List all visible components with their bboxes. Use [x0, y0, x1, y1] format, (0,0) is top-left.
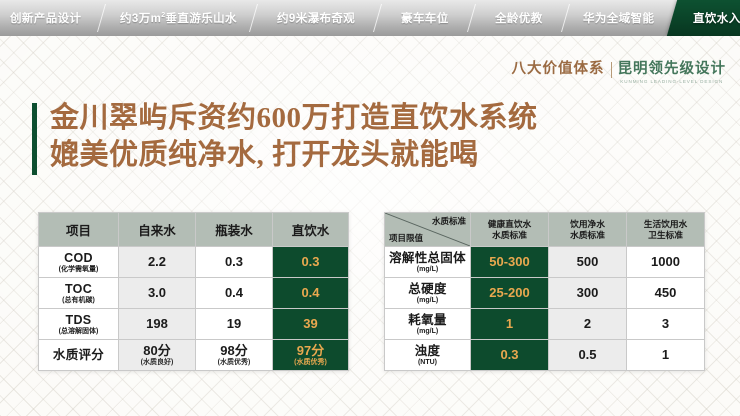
table-header-row: 项目 自来水 瓶装水 直饮水 — [39, 213, 349, 247]
row-label-sub: (总有机碳) — [39, 296, 118, 305]
nav-tab-4[interactable]: 全龄优教 — [467, 0, 571, 36]
cell-healthy-direct: 25-200 — [471, 278, 549, 309]
row-label-sub: (总溶解固体) — [39, 327, 118, 336]
table-row: COD (化学需氧量) 2.2 0.3 0.3 — [39, 247, 349, 278]
row-label-cell: 总硬度 (mg/L) — [385, 278, 471, 309]
table-row: 耗氧量 (mg/L) 1 2 3 — [385, 309, 705, 340]
row-label-cell: 溶解性总固体 (mg/L) — [385, 247, 471, 278]
cell-tap: 80分 (水质良好) — [119, 340, 196, 371]
row-label-main: COD — [39, 251, 118, 265]
nav-tab-label: 创新产品设计 — [10, 10, 81, 26]
cell-value: 19 — [196, 317, 272, 331]
top-navigation-bar: 创新产品设计 约3万m2垂直游乐山水 约9米瀑布奇观 豪车车位 全龄优教 华为全… — [0, 0, 740, 36]
row-label-main: TDS — [39, 313, 118, 327]
cell-purified: 300 — [549, 278, 627, 309]
cell-value: 0.3 — [471, 348, 548, 362]
headline-block: 金川翠屿斥资约600万打造直饮水系统 媲美优质纯净水, 打开龙头就能喝 — [32, 100, 538, 175]
cell-domestic: 450 — [627, 278, 705, 309]
col-header-direct: 直饮水 — [273, 213, 349, 247]
cell-value: 2.2 — [119, 255, 195, 269]
col-header-line2: 水质标准 — [471, 230, 548, 241]
row-label-unit: (mg/L) — [385, 296, 470, 305]
cell-direct: 0.4 — [273, 278, 349, 309]
cell-tap: 3.0 — [119, 278, 196, 309]
cell-value: 39 — [273, 317, 348, 331]
cell-value: 300 — [549, 286, 626, 300]
cell-value: 1 — [627, 348, 704, 362]
row-label-cell: 浊度 (NTU) — [385, 340, 471, 371]
water-standard-limits-table: 水质标准 项目限值 健康直饮水 水质标准 饮用净水 水质标准 生活饮用水 卫生标… — [384, 212, 705, 371]
brand-divider — [611, 62, 612, 78]
row-label-cell: COD (化学需氧量) — [39, 247, 119, 278]
nav-tab-label: 约9米瀑布奇观 — [277, 10, 355, 26]
cell-value: 50-300 — [471, 255, 548, 269]
cell-value: 2 — [549, 317, 626, 331]
cell-value: 3 — [627, 317, 704, 331]
cell-sub: (水质良好) — [119, 358, 195, 367]
nav-tab-0[interactable]: 创新产品设计 — [0, 0, 107, 36]
nav-tab-label: 豪车车位 — [401, 10, 449, 26]
cell-value: 1 — [471, 317, 548, 331]
col-header-healthy-direct: 健康直饮水 水质标准 — [471, 213, 549, 247]
nav-tab-3[interactable]: 豪车车位 — [373, 0, 477, 36]
cell-value: 0.3 — [196, 255, 272, 269]
col-header-tap: 自来水 — [119, 213, 196, 247]
headline-line-2: 媲美优质纯净水, 打开龙头就能喝 — [50, 137, 538, 174]
row-label-main: TOC — [39, 282, 118, 296]
cell-healthy-direct: 0.3 — [471, 340, 549, 371]
brand-lockup: 八大价值体系 昆明领先级设计 KUNMING LEADING-LEVEL DES… — [512, 60, 727, 84]
cell-tap: 2.2 — [119, 247, 196, 278]
nav-tab-2[interactable]: 约9米瀑布奇观 — [249, 0, 383, 36]
cell-bottled: 19 — [196, 309, 273, 340]
row-label-cell: 水质评分 — [39, 340, 119, 371]
cell-bottled: 0.4 — [196, 278, 273, 309]
row-label-sub: (化学需氧量) — [39, 265, 118, 274]
nav-tab-label: 直饮水入户 — [693, 10, 740, 26]
table-row: 总硬度 (mg/L) 25-200 300 450 — [385, 278, 705, 309]
row-label-main: 耗氧量 — [385, 313, 470, 327]
cell-value: 198 — [119, 317, 195, 331]
cell-healthy-direct: 50-300 — [471, 247, 549, 278]
brand-subtitle-cn: 昆明领先级设计 — [618, 60, 727, 78]
cell-value: 0.5 — [549, 348, 626, 362]
cell-domestic: 1000 — [627, 247, 705, 278]
row-label-cell: 耗氧量 (mg/L) — [385, 309, 471, 340]
cell-value: 97分 — [273, 344, 348, 358]
cell-value: 0.4 — [273, 286, 348, 300]
cell-value: 450 — [627, 286, 704, 300]
col-header-line1: 健康直饮水 — [471, 219, 548, 230]
row-label-unit: (NTU) — [385, 358, 470, 367]
row-label-main: 浊度 — [385, 344, 470, 358]
cell-purified: 2 — [549, 309, 627, 340]
cell-value: 25-200 — [471, 286, 548, 300]
cell-bottled: 98分 (水质优秀) — [196, 340, 273, 371]
table-row: 浊度 (NTU) 0.3 0.5 1 — [385, 340, 705, 371]
nav-tab-5[interactable]: 华为全域智能 — [561, 0, 677, 36]
col-header-domestic: 生活饮用水 卫生标准 — [627, 213, 705, 247]
brand-main-title: 八大价值体系 — [512, 60, 605, 78]
brand-subtitle-en: KUNMING LEADING-LEVEL DESIGN — [620, 79, 723, 84]
nav-tab-6-active[interactable]: 直饮水入户 — [667, 0, 740, 36]
table-row: 水质评分 80分 (水质良好) 98分 (水质优秀) 97分 (水质优秀) — [39, 340, 349, 371]
corner-split-header: 水质标准 项目限值 — [385, 213, 471, 247]
col-header-line2: 水质标准 — [549, 230, 626, 241]
corner-top-right-label: 水质标准 — [432, 216, 466, 226]
headline-line-1: 金川翠屿斥资约600万打造直饮水系统 — [50, 100, 538, 137]
row-label-main: 总硬度 — [385, 282, 470, 296]
cell-direct: 39 — [273, 309, 349, 340]
water-quality-comparison-table: 项目 自来水 瓶装水 直饮水 COD (化学需氧量) 2.2 0.3 0.3 T… — [38, 212, 349, 371]
col-header-purified: 饮用净水 水质标准 — [549, 213, 627, 247]
row-label-main: 溶解性总固体 — [385, 251, 470, 265]
cell-value: 80分 — [119, 344, 195, 358]
nav-tab-1[interactable]: 约3万m2垂直游乐山水 — [97, 0, 259, 36]
cell-value: 3.0 — [119, 286, 195, 300]
cell-tap: 198 — [119, 309, 196, 340]
col-header-line2: 卫生标准 — [627, 230, 704, 241]
headline-accent-bar — [32, 103, 37, 175]
cell-purified: 0.5 — [549, 340, 627, 371]
row-label-cell: TDS (总溶解固体) — [39, 309, 119, 340]
col-header-bottled: 瓶装水 — [196, 213, 273, 247]
table-row: 溶解性总固体 (mg/L) 50-300 500 1000 — [385, 247, 705, 278]
cell-value: 0.4 — [196, 286, 272, 300]
cell-healthy-direct: 1 — [471, 309, 549, 340]
cell-value: 98分 — [196, 344, 272, 358]
cell-sub: (水质优秀) — [196, 358, 272, 367]
cell-direct: 97分 (水质优秀) — [273, 340, 349, 371]
nav-tab-label: 约3万m2垂直游乐山水 — [120, 10, 237, 26]
cell-bottled: 0.3 — [196, 247, 273, 278]
row-label-main: 水质评分 — [39, 348, 118, 362]
cell-sub: (水质优秀) — [273, 358, 348, 367]
cell-value: 500 — [549, 255, 626, 269]
col-header-item: 项目 — [39, 213, 119, 247]
table-row: TOC (总有机碳) 3.0 0.4 0.4 — [39, 278, 349, 309]
brand-subtitle-group: 昆明领先级设计 KUNMING LEADING-LEVEL DESIGN — [618, 60, 727, 84]
row-label-unit: (mg/L) — [385, 265, 470, 274]
cell-domestic: 1 — [627, 340, 705, 371]
row-label-cell: TOC (总有机碳) — [39, 278, 119, 309]
col-header-line1: 生活饮用水 — [627, 219, 704, 230]
table-header-row: 水质标准 项目限值 健康直饮水 水质标准 饮用净水 水质标准 生活饮用水 卫生标… — [385, 213, 705, 247]
nav-tab-label: 华为全域智能 — [583, 10, 654, 26]
cell-purified: 500 — [549, 247, 627, 278]
cell-domestic: 3 — [627, 309, 705, 340]
nav-tab-label: 全龄优教 — [495, 10, 543, 26]
headline-lines: 金川翠屿斥资约600万打造直饮水系统 媲美优质纯净水, 打开龙头就能喝 — [50, 100, 538, 175]
cell-direct: 0.3 — [273, 247, 349, 278]
row-label-unit: (mg/L) — [385, 327, 470, 336]
cell-value: 0.3 — [273, 255, 348, 269]
corner-bottom-left-label: 项目限值 — [389, 233, 423, 243]
cell-value: 1000 — [627, 255, 704, 269]
col-header-line1: 饮用净水 — [549, 219, 626, 230]
table-row: TDS (总溶解固体) 198 19 39 — [39, 309, 349, 340]
